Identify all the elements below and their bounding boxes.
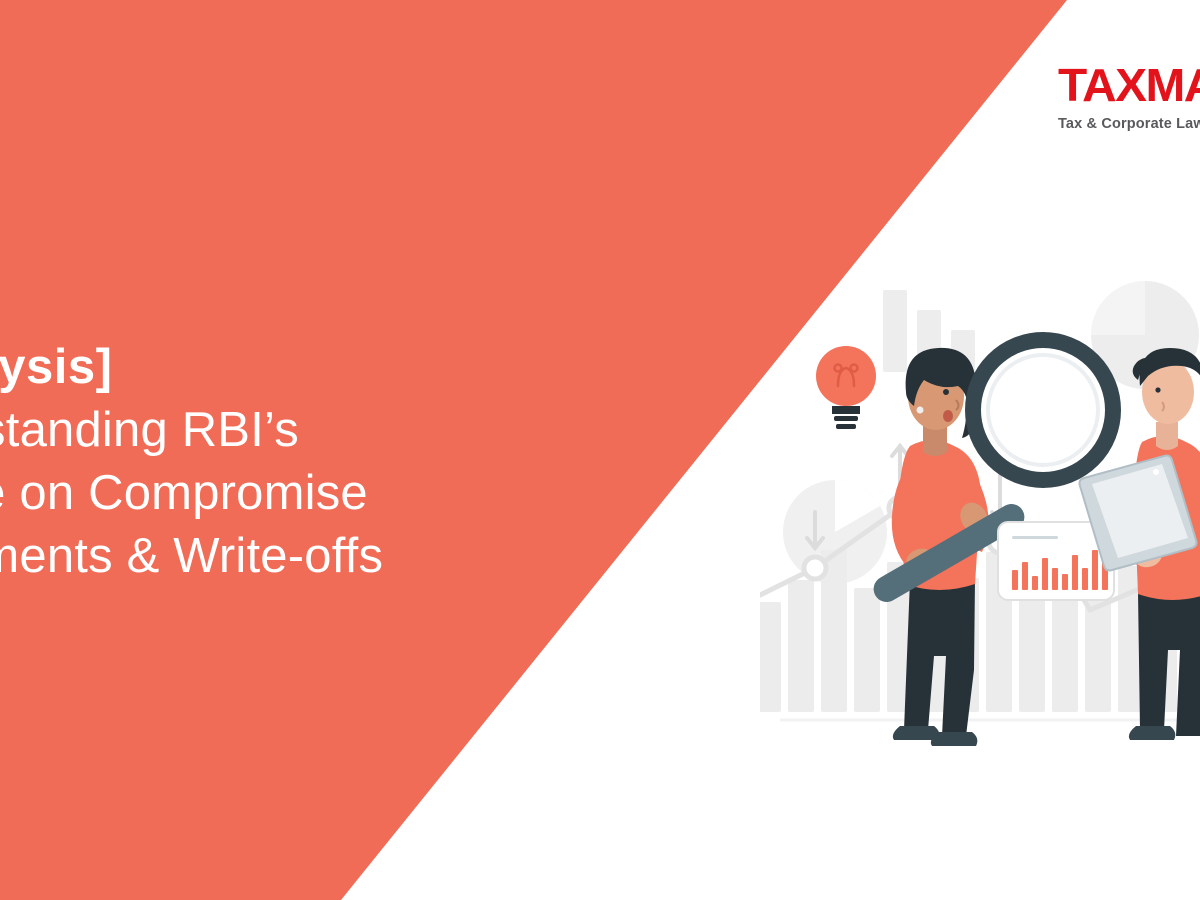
headline-line-3: tlements & Write-offs xyxy=(0,525,686,588)
headline-block: nalysis] lerstanding RBI’s nce on Compro… xyxy=(0,336,686,588)
data-analysis-illustration xyxy=(760,250,1200,810)
headline-line-2: nce on Compromise xyxy=(0,462,686,525)
headline-line-1: lerstanding RBI’s xyxy=(0,399,686,462)
headline-eyebrow: nalysis] xyxy=(0,336,686,399)
lightbulb-icon xyxy=(816,346,876,429)
logo-wordmark: TAXMA xyxy=(1058,62,1200,108)
promo-banner: nalysis] lerstanding RBI’s nce on Compro… xyxy=(0,0,1200,900)
logo-tagline: Tax & Corporate Law xyxy=(1058,116,1200,132)
taxmann-logo[interactable]: TAXMA Tax & Corporate Law xyxy=(1058,62,1200,132)
